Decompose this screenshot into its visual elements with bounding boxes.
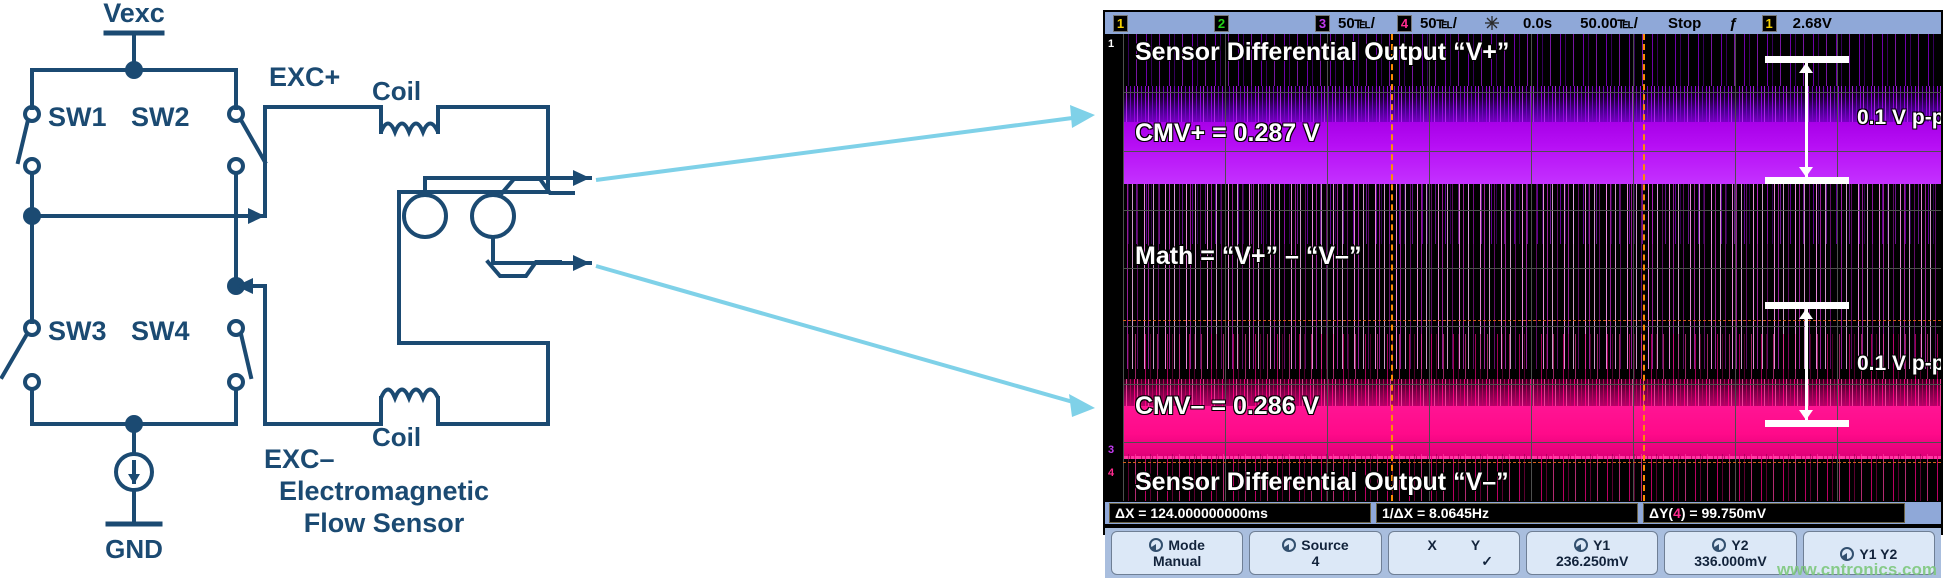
softkey-y-check-icon: ✓ [1481, 553, 1493, 569]
measurement-delta-y-prefix: ΔY( [1649, 505, 1673, 521]
callout-arrow-bottom [596, 266, 1080, 404]
softkey-y-label: Y [1471, 537, 1480, 553]
callout-arrowhead-bottom [1069, 394, 1095, 417]
softkey-y2-label: Y2 [1731, 537, 1748, 553]
measurement-delta-x-value: ΔX = 124.000000000ms [1115, 505, 1268, 521]
softkey-source-label: Source [1301, 537, 1348, 553]
callout-arrowhead-top [1070, 105, 1095, 128]
trigger-level[interactable]: 2.68V [1793, 15, 1832, 32]
overlay-cmv-minus: CMV– = 0.286 V [1135, 392, 1319, 421]
cursor-x2[interactable] [1643, 34, 1645, 501]
channel-4-scale[interactable]: 50℡/ [1420, 14, 1457, 32]
rotary-knob-icon [1840, 547, 1854, 561]
edge-marker-3[interactable]: 3 [1105, 443, 1117, 456]
scope-softkey-bar: Mode Manual Source 4 X Y ✓ Y1 236.250mV … [1105, 528, 1941, 578]
overlay-math-label: Math = “V+” – “V–” [1135, 242, 1361, 271]
label-coil-bottom: Coil [372, 422, 421, 452]
cursor-y2[interactable] [1123, 462, 1941, 463]
pp-marker-top [1765, 56, 1849, 184]
softkey-y1-label: Y1 [1593, 537, 1610, 553]
softkey-source-value: 4 [1312, 553, 1320, 569]
label-exc-plus: EXC+ [269, 62, 340, 92]
label-vexc: Vexc [103, 0, 165, 28]
overlay-pp-bottom: 0.1 V p-p [1857, 352, 1941, 376]
overlay-cmv-plus: CMV+ = 0.287 V [1135, 119, 1320, 148]
softkey-mode-label: Mode [1168, 537, 1205, 553]
channel-3-badge[interactable]: 3 [1315, 15, 1330, 32]
label-gnd: GND [105, 534, 163, 564]
cursor-x1[interactable] [1391, 34, 1393, 501]
trigger-position-icon [1483, 15, 1501, 31]
label-sw1: SW1 [48, 102, 107, 132]
label-coil-top: Coil [372, 76, 421, 106]
label-sensor-line1: Electromagnetic [279, 476, 489, 506]
oscilloscope-screenshot: 1 2 3 50℡/ 4 50℡/ 0.0s 50.00℡/ Stop ƒ 1 … [1103, 10, 1943, 588]
run-state[interactable]: Stop [1668, 15, 1701, 32]
channel-2-badge[interactable]: 2 [1214, 15, 1229, 32]
label-sw4: SW4 [131, 316, 190, 346]
overlay-top-title: Sensor Differential Output “V+” [1135, 38, 1509, 67]
measurement-delta-y[interactable]: ΔY(4) = 99.750mV [1643, 503, 1905, 523]
measurement-delta-x[interactable]: ΔX = 124.000000000ms [1109, 503, 1371, 523]
overlay-pp-top: 0.1 V p-p [1857, 106, 1941, 130]
timebase-scale[interactable]: 50.00℡/ [1580, 14, 1638, 32]
label-sw3: SW3 [48, 316, 107, 346]
edge-marker-1[interactable]: 1 [1105, 37, 1117, 50]
circuit-schematic: Vexc SW1 SW2 SW3 SW4 GND EXC+ EXC– Coil … [0, 0, 1100, 588]
softkey-y2-value: 336.000mV [1694, 553, 1766, 569]
overlay-bottom-title: Sensor Differential Output “V–” [1135, 468, 1509, 497]
measurement-inv-delta-x-value: 1/ΔX = 8.0645Hz [1382, 505, 1489, 521]
trigger-source-badge[interactable]: 1 [1762, 15, 1777, 32]
channel-1-badge[interactable]: 1 [1113, 15, 1128, 32]
scope-measurement-bar: ΔX = 124.000000000ms 1/ΔX = 8.0645Hz ΔY(… [1105, 502, 1941, 524]
entry-knob-icon [1282, 538, 1296, 552]
rotary-knob-icon [1712, 538, 1726, 552]
label-sensor-line2: Flow Sensor [304, 508, 465, 538]
label-exc-minus: EXC– [264, 444, 335, 474]
circuit-diagram-panel: Vexc SW1 SW2 SW3 SW4 GND EXC+ EXC– Coil … [0, 0, 1100, 588]
edge-marker-4[interactable]: 4 [1105, 466, 1117, 479]
rotary-knob-icon [1574, 538, 1588, 552]
measurement-delta-y-channel: 4 [1673, 505, 1681, 521]
trigger-delay[interactable]: 0.0s [1523, 15, 1552, 32]
softkey-mode-value: Manual [1153, 553, 1201, 569]
softkey-x-label: X [1427, 537, 1436, 553]
watermark: www.cntronics.com [1777, 560, 1937, 580]
scope-left-gutter [1105, 34, 1123, 501]
channel-3-scale[interactable]: 50℡/ [1338, 14, 1375, 32]
softkey-y1[interactable]: Y1 236.250mV [1526, 531, 1658, 575]
callout-arrow-top [596, 117, 1080, 180]
trigger-slope-icon[interactable]: ƒ [1729, 15, 1737, 32]
softkey-source[interactable]: Source 4 [1249, 531, 1381, 575]
scope-status-bar: 1 2 3 50℡/ 4 50℡/ 0.0s 50.00℡/ Stop ƒ 1 … [1105, 12, 1941, 34]
softkey-mode[interactable]: Mode Manual [1111, 531, 1243, 575]
pp-marker-bottom [1765, 302, 1849, 427]
measurement-inv-delta-x[interactable]: 1/ΔX = 8.0645Hz [1376, 503, 1638, 523]
softkey-xy[interactable]: X Y ✓ [1388, 531, 1520, 575]
softkey-y1-value: 236.250mV [1556, 553, 1628, 569]
scope-waveform-area[interactable]: 1 3 4 [1105, 34, 1941, 501]
measurement-delta-y-suffix: ) = 99.750mV [1681, 505, 1766, 521]
label-sw2: SW2 [131, 102, 190, 132]
channel-4-badge[interactable]: 4 [1397, 15, 1412, 32]
entry-knob-icon [1149, 538, 1163, 552]
